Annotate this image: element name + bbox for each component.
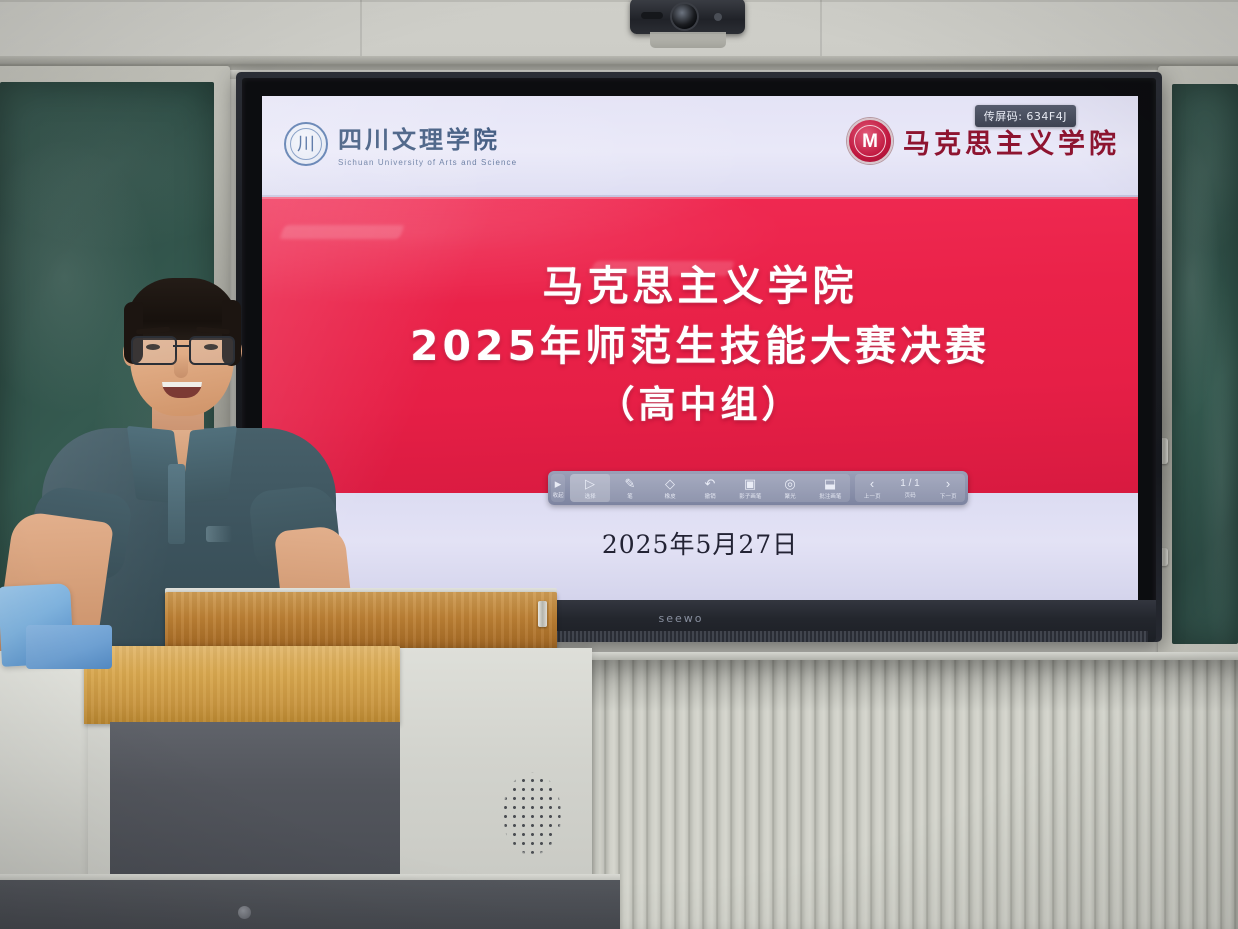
school-name-cn: 马克思主义学院 — [903, 122, 1120, 161]
screen-glare — [279, 225, 405, 239]
university-logo: 川 四川文理学院 Sichuan University of Arts and … — [284, 120, 517, 167]
tool-undo[interactable]: ↶ 撤销 — [690, 474, 730, 502]
display-brand-logo: seewo — [641, 612, 721, 628]
slide-title-line2: 2025年师范生技能大赛决赛 — [410, 324, 990, 370]
podium-base — [0, 880, 620, 929]
side-cabinet — [0, 651, 96, 881]
wall-seam — [820, 0, 822, 58]
tool-shadow-pen[interactable]: ▣ 影子画笔 — [730, 474, 770, 502]
next-page-label: 下一页 — [940, 491, 957, 499]
podium-front-panel — [110, 722, 400, 882]
toolbar-collapse-label: 收起 — [552, 490, 563, 498]
presenter-collar-right — [181, 426, 237, 504]
slide-title-line3: （高中组） — [598, 384, 803, 425]
page-indicator-value: 1 / 1 — [900, 479, 919, 489]
university-seal-icon: 川 — [284, 122, 328, 166]
university-seal-glyph: 川 — [297, 135, 315, 153]
chevron-right-icon: › — [946, 477, 950, 490]
slide-title-block: 马克思主义学院 2025年师范生技能大赛决赛 （高中组） — [262, 197, 1138, 493]
conference-camera — [630, 0, 745, 34]
cursor-icon: ▷ — [585, 477, 595, 490]
podium-speaker-grille — [492, 758, 572, 870]
ribbed-panel-shadow — [592, 660, 1238, 712]
wall-seam — [0, 0, 1238, 2]
tool-spotlight-label: 聚光 — [784, 491, 795, 499]
slide-footer: 2025年5月27日 — [262, 493, 1138, 600]
annotate-icon: ⬓ — [824, 477, 836, 490]
camera-indicator-dot — [714, 13, 722, 21]
podium-speaker-dots — [492, 758, 572, 870]
spotlight-circle-icon: ◎ — [784, 477, 795, 490]
tool-pen[interactable]: ✎ 笔 — [610, 474, 650, 502]
tool-select-label: 选择 — [584, 491, 595, 499]
slide-header: 川 四川文理学院 Sichuan University of Arts and … — [262, 96, 1138, 197]
chevron-left-icon: ‹ — [870, 477, 874, 490]
tool-annotate[interactable]: ⬓ 批注画笔 — [810, 474, 850, 502]
next-page-button[interactable]: › 下一页 — [931, 474, 965, 502]
tool-undo-label: 撤销 — [704, 491, 715, 499]
presenter-placket — [168, 464, 185, 544]
screen-cast-code-badge: 传屏码: 634F4J — [975, 105, 1076, 127]
page-indicator[interactable]: 1 / 1 页码 — [889, 474, 931, 502]
podium-latch[interactable] — [538, 601, 547, 627]
podium-base-knob[interactable] — [238, 906, 251, 919]
toolbar-tool-group: ▷ 选择 ✎ 笔 ◇ 橡皮 ↶ 撤销 ▣ 影子画笔 ◎ 聚光 — [570, 474, 850, 502]
school-seal-letter: M — [862, 132, 878, 151]
university-name-cn: 四川文理学院 — [338, 120, 517, 155]
school-seal-icon: M — [847, 118, 893, 164]
chevron-right-icon: ▸ — [555, 477, 562, 490]
toolbar-nav-group: ‹ 上一页 1 / 1 页码 › 下一页 — [855, 474, 965, 502]
camera-mount — [650, 32, 726, 48]
toolbar-collapse-button[interactable]: ▸ 收起 — [551, 474, 565, 502]
tool-eraser[interactable]: ◇ 橡皮 — [650, 474, 690, 502]
university-name-en: Sichuan University of Arts and Science — [338, 158, 517, 167]
prev-page-button[interactable]: ‹ 上一页 — [855, 474, 889, 502]
prev-page-label: 上一页 — [864, 491, 881, 499]
slide-title-line1: 马克思主义学院 — [543, 264, 858, 310]
slide-date: 2025年5月27日 — [262, 525, 1138, 561]
tool-shadow-pen-label: 影子画笔 — [739, 491, 761, 499]
slide-title-banner: 马克思主义学院 2025年师范生技能大赛决赛 （高中组） ▶ — [262, 197, 1138, 493]
display-screen[interactable]: 川 四川文理学院 Sichuan University of Arts and … — [262, 96, 1138, 600]
screen-capture-icon: ▣ — [744, 477, 756, 490]
annotation-toolbar[interactable]: ▸ 收起 ▷ 选择 ✎ 笔 ◇ 橡皮 ↶ 撤销 ▣ 影子画笔 — [548, 471, 968, 505]
chalkboard-right — [1172, 84, 1238, 644]
tool-pen-label: 笔 — [627, 491, 633, 499]
wall-seam — [360, 0, 362, 58]
camera-lens-icon — [672, 4, 697, 29]
presenter-shirt-logo — [206, 526, 232, 542]
banner-top-line — [262, 197, 1138, 199]
tool-spotlight[interactable]: ◎ 聚光 — [770, 474, 810, 502]
eraser-icon: ◇ — [665, 477, 675, 490]
tool-select[interactable]: ▷ 选择 — [570, 474, 610, 502]
tool-eraser-label: 橡皮 — [664, 491, 675, 499]
glasses-lens-right — [189, 336, 235, 365]
classroom-photo: 川 四川文理学院 Sichuan University of Arts and … — [0, 0, 1238, 929]
undo-arrow-icon: ↶ — [705, 477, 716, 490]
podium-top-panel — [84, 646, 400, 724]
tool-annotate-label: 批注画笔 — [819, 491, 841, 499]
page-indicator-label: 页码 — [904, 490, 915, 498]
blue-cloth-fold — [26, 625, 112, 669]
presenter-nose — [174, 354, 188, 378]
screen-glare — [589, 261, 735, 276]
pen-icon: ✎ — [625, 477, 636, 490]
glasses-lens-left — [131, 336, 177, 365]
camera-mic-slot — [641, 12, 663, 19]
